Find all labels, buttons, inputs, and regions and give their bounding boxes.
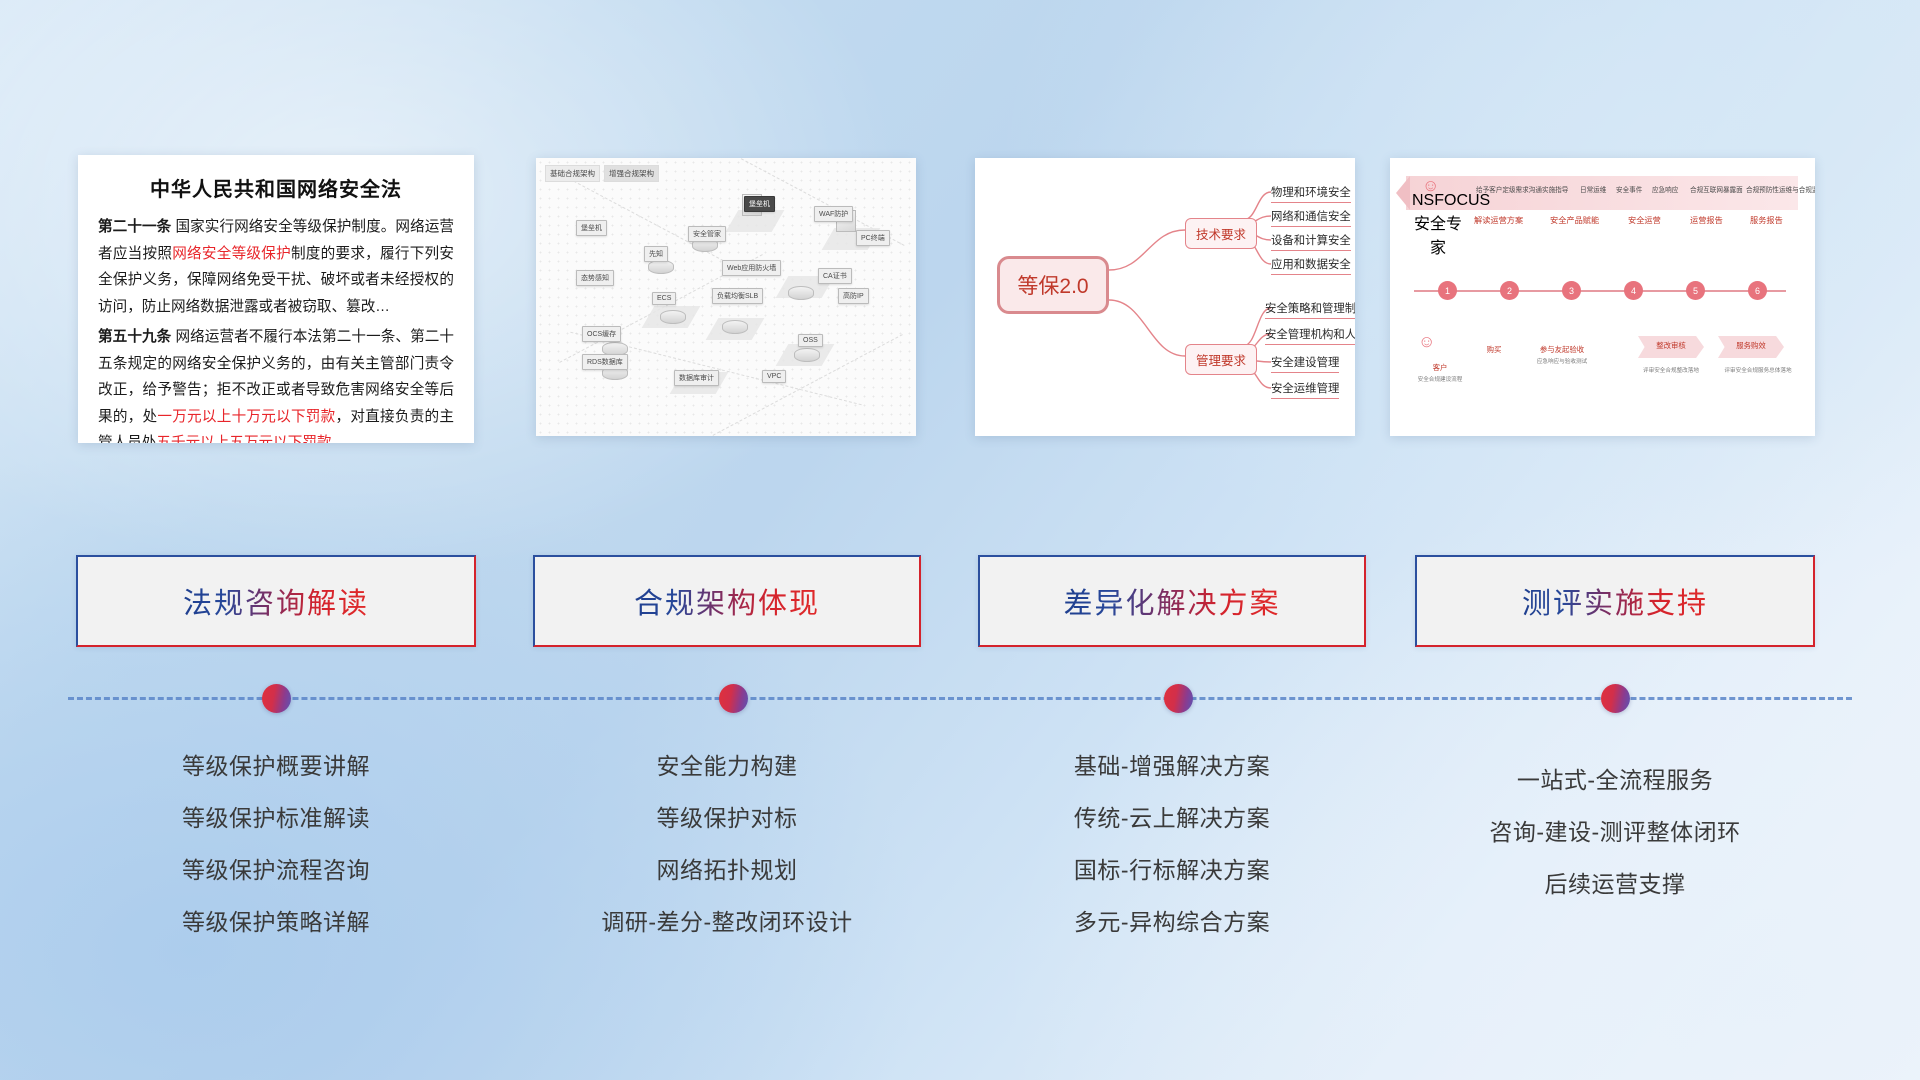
law-paragraph-21: 第二十一条 国家实行网络安全等级保护制度。网络运营者应当按照网络安全等级保护制度… [98,214,454,320]
roadmap-header-item: 合规互联网暴露面 [1690,184,1743,194]
section-title-text: 法规咨询解读 [183,580,369,622]
roadmap-step: 5 [1686,281,1705,300]
mindmap-branch-technical: 技术要求 [1185,218,1257,249]
arch-node: 安全管家 [688,226,726,242]
card-dengbao-mindmap[interactable]: 等保2.0 技术要求 管理要求 物理和环境安全 网络和通信安全 设备和计算安全 … [975,158,1355,436]
iso-disk [648,260,674,274]
card-cybersecurity-law[interactable]: 中华人民共和国网络安全法 第二十一条 国家实行网络安全等级保护制度。网络运营者应… [78,155,474,443]
mindmap: 等保2.0 技术要求 管理要求 物理和环境安全 网络和通信安全 设备和计算安全 … [975,158,1355,436]
section-items-4: 一站式-全流程服务 咨询-建设-测评整体闭环 后续运营支撑 [1415,740,1815,910]
section-item: 等级保护流程咨询 [76,844,476,896]
arch-node: OSS [798,334,823,347]
customer-label-text: 客户 [1433,363,1448,372]
section-item: 咨询-建设-测评整体闭环 [1415,806,1815,858]
timeline-dot-1[interactable] [262,684,291,713]
roadmap-note-title: 服务购效 [1736,341,1766,350]
roadmap-header-item: 给予客户定级需求沟通 [1476,184,1542,194]
mindmap-leaf: 安全运维管理 [1271,380,1339,399]
customer-person-icon: ☺ [1418,332,1435,352]
mindmap-leaf: 设备和计算安全 [1271,232,1351,251]
roadmap-axis-line [1414,290,1786,292]
mindmap-leaf: 应用和数据安全 [1271,256,1351,275]
roadmap-step: 6 [1748,281,1767,300]
card-nsfocus-roadmap[interactable]: ☺ NSFOCUS 安全专家 给予客户定级需求沟通 实施指导 日常运维 安全事件… [1390,158,1815,436]
timeline-dot-4[interactable] [1601,684,1630,713]
card-compliance-architecture[interactable]: 基础合规架构 增强合规架构 [536,158,916,436]
section-items-3: 基础-增强解决方案 传统-云上解决方案 国标-行标解决方案 多元-异构综合方案 [978,740,1366,948]
roadmap-header-item: 应急响应 [1652,184,1678,194]
arch-node: 负载均衡SLB [712,288,763,304]
section-items-1: 等级保护概要讲解 等级保护标准解读 等级保护流程咨询 等级保护策略详解 [76,740,476,948]
roadmap-diagram: ☺ NSFOCUS 安全专家 给予客户定级需求沟通 实施指导 日常运维 安全事件… [1390,158,1815,436]
arch-node: 态势感知 [576,270,614,286]
tab-enhanced-architecture[interactable]: 增强合规架构 [604,165,659,182]
arch-node: 数据库审计 [674,370,719,386]
section-title-box-2[interactable]: 合规架构体现 [533,555,921,647]
slide-canvas: 中华人民共和国网络安全法 第二十一条 国家实行网络安全等级保护制度。网络运营者应… [0,0,1920,1080]
roadmap-note: 参与友起验收 应急响应与验收测试 [1526,344,1598,365]
arch-node: WAF防护 [814,206,853,222]
mindmap-leaf: 安全管理机构和人员 [1265,326,1355,345]
arch-node: 先知 [644,246,668,262]
roadmap-header-item: 日常运维 [1580,184,1606,194]
roadmap-service-item: 运营报告 [1690,214,1723,226]
roadmap-step: 2 [1500,281,1519,300]
arch-node: VPC [762,370,786,383]
section-item: 等级保护对标 [533,792,921,844]
mindmap-leaf: 物理和环境安全 [1271,184,1351,203]
section-item: 网络拓扑规划 [533,844,921,896]
arch-node: 堡垒机 [744,196,775,212]
roadmap-service-item: 安全运营 [1628,214,1661,226]
mindmap-leaf: 安全策略和管理制度 [1265,300,1355,319]
section-item: 传统-云上解决方案 [978,792,1366,844]
section-title-text: 合规架构体现 [634,580,820,622]
arch-node: OCS缓存 [582,326,621,342]
arch-node: PC终端 [856,230,890,246]
roadmap-service-item: 服务报告 [1750,214,1783,226]
roadmap-note-sub: 评审安全合规整改落地 [1626,366,1716,374]
section-title-box-1[interactable]: 法规咨询解读 [76,555,476,647]
section-title-text: 差异化解决方案 [1063,580,1280,622]
tab-basic-architecture[interactable]: 基础合规架构 [545,165,600,182]
roadmap-customer-label: 客户 安全合规建设流程 [1412,362,1468,383]
arch-node: 高防IP [838,288,869,304]
roadmap-note-title: 购买 [1487,345,1502,354]
arch-node: ECS [652,292,676,305]
architecture-tabs[interactable]: 基础合规架构 增强合规架构 [545,165,659,182]
mindmap-branch-management: 管理要求 [1185,344,1257,375]
arch-node: Web应用防火墙 [722,260,781,276]
roadmap-service-item: 安全产品赋能 [1550,214,1599,226]
section-item: 等级保护标准解读 [76,792,476,844]
section-item: 一站式-全流程服务 [1415,754,1815,806]
roadmap-service-item: 解读运营方案 [1474,214,1523,226]
arch-node: 堡垒机 [576,220,607,236]
roadmap-header-item: 实施指导 [1542,184,1568,194]
section-item: 等级保护策略详解 [76,896,476,948]
roadmap-brand-label: NSFOCUS 安全专家 [1412,192,1464,258]
law-article-number: 第二十一条 [98,219,171,235]
arch-node: CA证书 [818,268,852,284]
law-article-number: 第五十九条 [98,329,171,345]
customer-sub-text: 安全合规建设流程 [1412,375,1468,383]
header-arrow-icon [1396,176,1410,210]
roadmap-header-item: 合规预防性运维与合规监督 [1746,184,1815,194]
section-item: 调研-差分-整改闭环设计 [533,896,921,948]
iso-disk [788,286,814,300]
roadmap-note-sub-wrap: 评审安全合规整改落地 [1626,364,1716,374]
roadmap-step: 3 [1562,281,1581,300]
timeline [68,697,1852,700]
section-title-box-4[interactable]: 测评实施支持 [1415,555,1815,647]
law-text-highlight: 网络安全等级保护 [172,246,291,262]
section-items-2: 安全能力构建 等级保护对标 网络拓扑规划 调研-差分-整改闭环设计 [533,740,921,948]
roadmap-step: 1 [1438,281,1457,300]
roadmap-note: 整改审核 [1640,340,1702,351]
timeline-dot-2[interactable] [719,684,748,713]
roadmap-note-title: 参与友起验收 [1540,345,1584,354]
roadmap-note-sub: 评审安全合规服务总体落地 [1710,366,1806,374]
section-item: 后续运营支撑 [1415,858,1815,910]
mindmap-leaf: 安全建设管理 [1271,354,1339,373]
timeline-dot-3[interactable] [1164,684,1193,713]
section-title-text: 测评实施支持 [1522,580,1708,622]
illustration-cards-row: 中华人民共和国网络安全法 第二十一条 国家实行网络安全等级保护制度。网络运营者应… [0,150,1920,450]
roadmap-step: 4 [1624,281,1643,300]
timeline-dashed-line [68,697,1852,700]
roadmap-note-title: 整改审核 [1656,341,1686,350]
law-paragraph-59: 第五十九条 网络运营者不履行本法第二十一条、第二十五条规定的网络安全保护义务的，… [98,324,454,443]
section-item: 安全能力构建 [533,740,921,792]
section-title-box-3[interactable]: 差异化解决方案 [978,555,1366,647]
roadmap-header-item: 安全事件 [1616,184,1642,194]
mindmap-leaf: 网络和通信安全 [1271,208,1351,227]
roadmap-note: 购买 [1472,344,1516,355]
arch-node: RDS数据库 [582,354,628,370]
mindmap-root-node: 等保2.0 [997,256,1109,314]
roadmap-note-sub-wrap: 评审安全合规服务总体落地 [1710,364,1806,374]
section-item: 多元-异构综合方案 [978,896,1366,948]
law-text-highlight: 一万元以上十万元以下罚款 [157,409,335,425]
roadmap-note-sub: 应急响应与验收测试 [1526,357,1598,365]
section-item: 等级保护概要讲解 [76,740,476,792]
law-card-title: 中华人民共和国网络安全法 [98,173,454,202]
section-title-row: 法规咨询解读 合规架构体现 差异化解决方案 测评实施支持 [0,555,1920,647]
roadmap-note: 服务购效 [1720,340,1782,351]
iso-disk [660,310,686,324]
section-item: 基础-增强解决方案 [978,740,1366,792]
section-item: 国标-行标解决方案 [978,844,1366,896]
iso-disk [794,348,820,362]
architecture-diagram: 基础合规架构 增强合规架构 [536,158,916,436]
section-items-row: 等级保护概要讲解 等级保护标准解读 等级保护流程咨询 等级保护策略详解 安全能力… [0,740,1920,960]
law-text-highlight: 五千元以上五万元以下罚款。 [156,435,346,443]
iso-disk [722,320,748,334]
